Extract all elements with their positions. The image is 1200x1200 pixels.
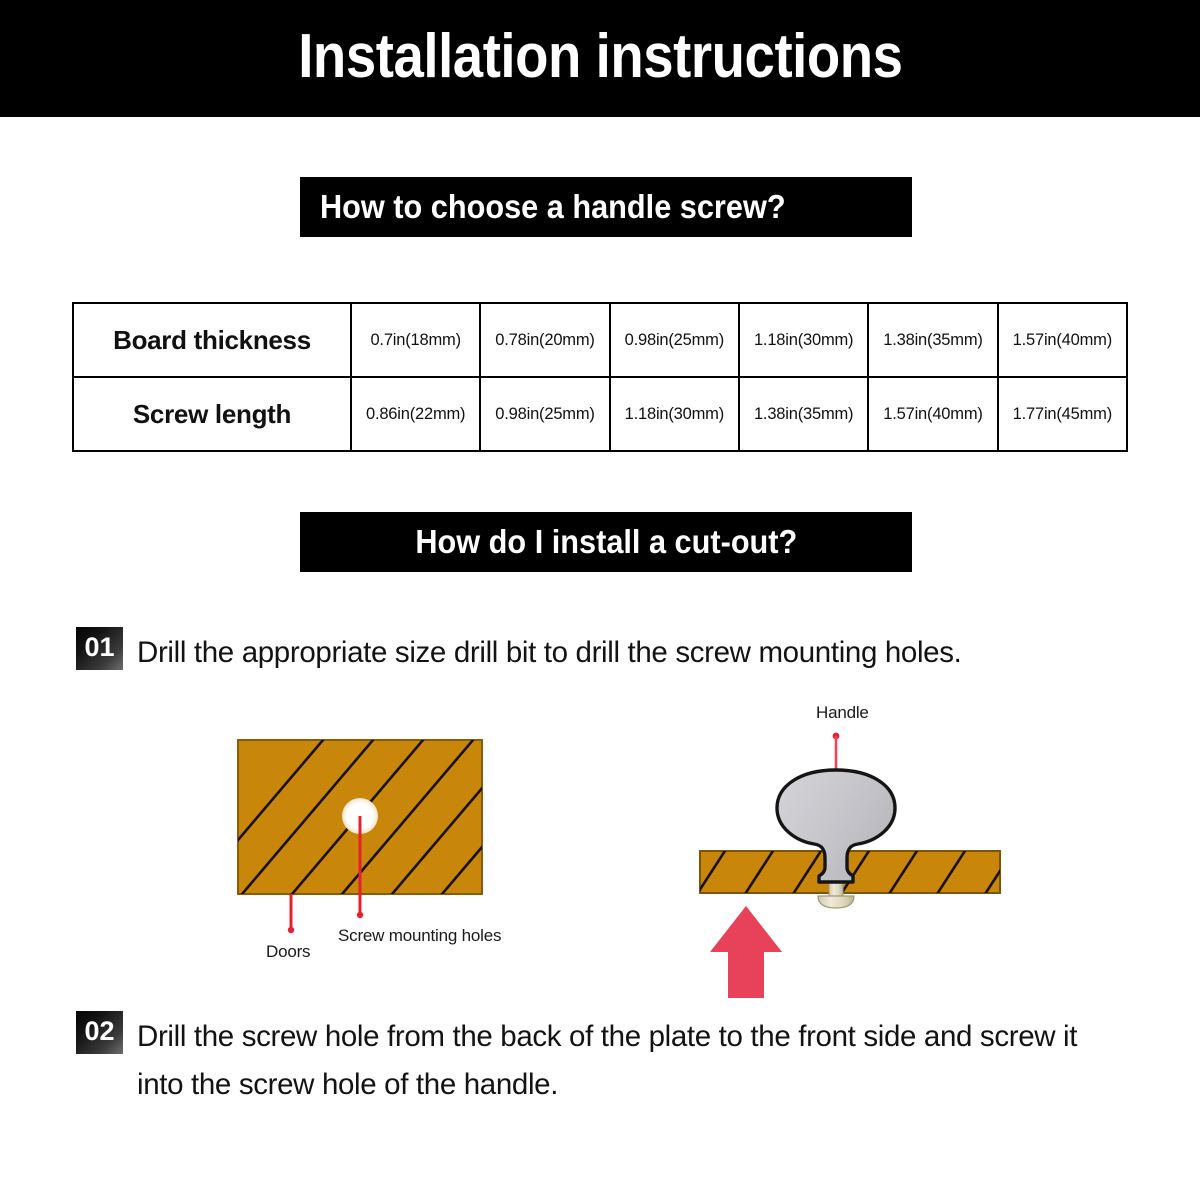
cell-board-thickness-6: 1.57in(40mm) xyxy=(998,303,1127,377)
cell-board-thickness-1: 0.7in(18mm) xyxy=(351,303,480,377)
step-01-number-badge: 01 xyxy=(76,627,123,670)
step-02: 02 Drill the screw hole from the back of… xyxy=(76,1011,1126,1109)
screw-head xyxy=(818,896,854,908)
step-02-text: Drill the screw hole from the back of th… xyxy=(137,1011,1126,1109)
step-02-number-badge: 02 xyxy=(76,1011,123,1054)
section-banner-install-cutout: How do I install a cut-out? xyxy=(300,512,912,572)
step-01-text: Drill the appropriate size drill bit to … xyxy=(137,627,961,677)
row-header-screw-length: Screw length xyxy=(73,377,351,451)
table-row: Board thickness 0.7in(18mm) 0.78in(20mm)… xyxy=(73,303,1127,377)
cell-board-thickness-4: 1.18in(30mm) xyxy=(739,303,868,377)
leader-line-doors xyxy=(288,894,294,933)
cell-screw-length-3: 1.18in(30mm) xyxy=(610,377,739,451)
caption-screw-mounting-holes: Screw mounting holes xyxy=(338,926,501,946)
cell-board-thickness-3: 0.98in(25mm) xyxy=(610,303,739,377)
caption-handle: Handle xyxy=(816,703,869,723)
step-01: 01 Drill the appropriate size drill bit … xyxy=(76,627,1136,677)
section-banner-choose-screw-label: How to choose a handle screw? xyxy=(320,190,786,225)
infographic-page: Installation instructions How to choose … xyxy=(0,0,1200,1200)
illustration-handle-assembly xyxy=(690,690,1035,1000)
page-title: Installation instructions xyxy=(298,26,902,92)
section-banner-choose-screw: How to choose a handle screw? xyxy=(300,177,912,237)
header-band: Installation instructions xyxy=(0,0,1200,117)
direction-arrow-up xyxy=(710,906,782,998)
cell-board-thickness-2: 0.78in(20mm) xyxy=(480,303,609,377)
cell-screw-length-4: 1.38in(35mm) xyxy=(739,377,868,451)
cell-screw-length-6: 1.77in(45mm) xyxy=(998,377,1127,451)
section-banner-install-cutout-label: How do I install a cut-out? xyxy=(415,525,797,560)
cell-screw-length-2: 0.98in(25mm) xyxy=(480,377,609,451)
table-row: Screw length 0.86in(22mm) 0.98in(25mm) 1… xyxy=(73,377,1127,451)
cell-screw-length-1: 0.86in(22mm) xyxy=(351,377,480,451)
cell-screw-length-5: 1.57in(40mm) xyxy=(868,377,997,451)
cell-board-thickness-5: 1.38in(35mm) xyxy=(868,303,997,377)
caption-doors: Doors xyxy=(266,942,310,962)
handle-assembly-svg xyxy=(690,690,1035,1000)
screw-spec-table: Board thickness 0.7in(18mm) 0.78in(20mm)… xyxy=(72,302,1128,452)
row-header-board-thickness: Board thickness xyxy=(73,303,351,377)
